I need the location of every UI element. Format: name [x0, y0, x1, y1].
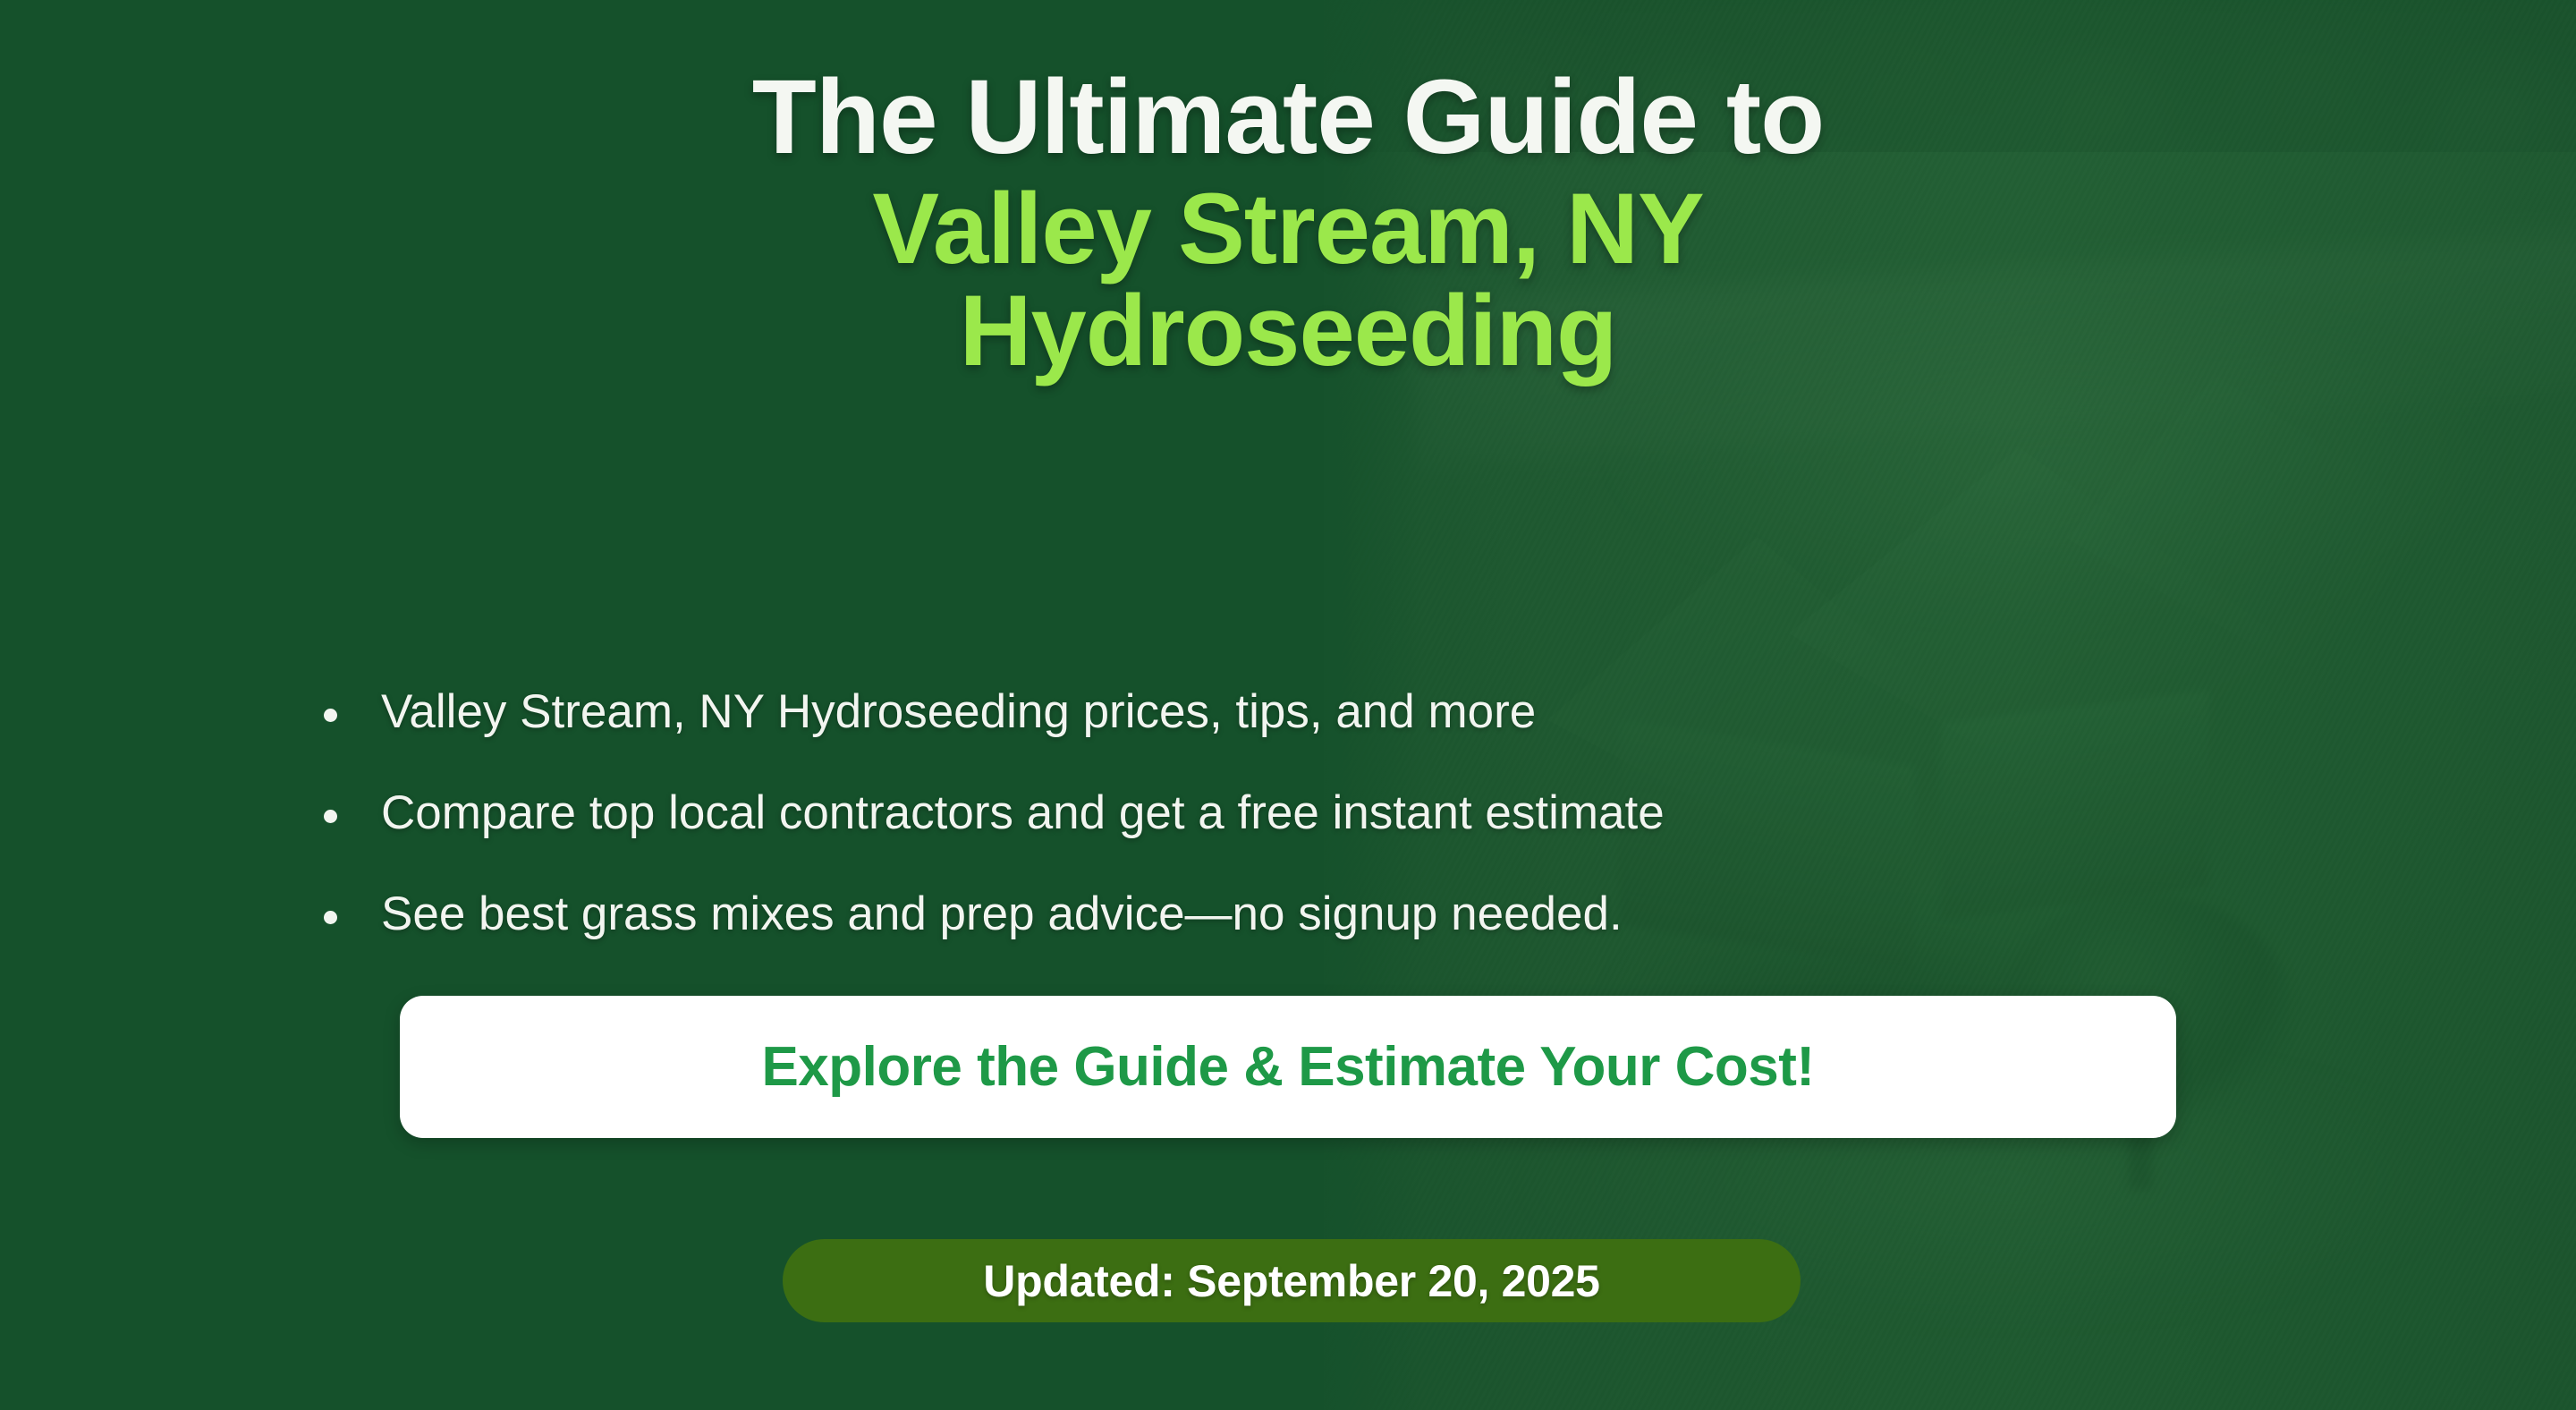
bullet-dot-icon: [324, 810, 337, 823]
list-item: Compare top local contractors and get a …: [315, 788, 2265, 838]
page-title-line-3: Hydroseeding: [0, 281, 2576, 381]
list-item: See best grass mixes and prep advice—no …: [315, 889, 2265, 939]
list-item-label: Compare top local contractors and get a …: [381, 786, 1665, 839]
list-item-label: See best grass mixes and prep advice—no …: [381, 888, 1623, 940]
page-title-line-2: Valley Stream, NY: [0, 179, 2576, 279]
page-title-line-1: The Ultimate Guide to: [0, 64, 2576, 170]
list-item: Valley Stream, NY Hydroseeding prices, t…: [315, 687, 2265, 737]
benefit-list: Valley Stream, NY Hydroseeding prices, t…: [315, 687, 2265, 940]
bullet-dot-icon: [324, 911, 337, 924]
list-item-label: Valley Stream, NY Hydroseeding prices, t…: [381, 685, 1536, 738]
banner-content: The Ultimate Guide to Valley Stream, NY …: [0, 0, 2576, 1410]
explore-guide-cta-button[interactable]: Explore the Guide & Estimate Your Cost!: [400, 996, 2176, 1138]
updated-date-badge: Updated: September 20, 2025: [783, 1239, 1801, 1322]
hero-banner: The Ultimate Guide to Valley Stream, NY …: [0, 0, 2576, 1410]
bullet-dot-icon: [324, 709, 337, 722]
